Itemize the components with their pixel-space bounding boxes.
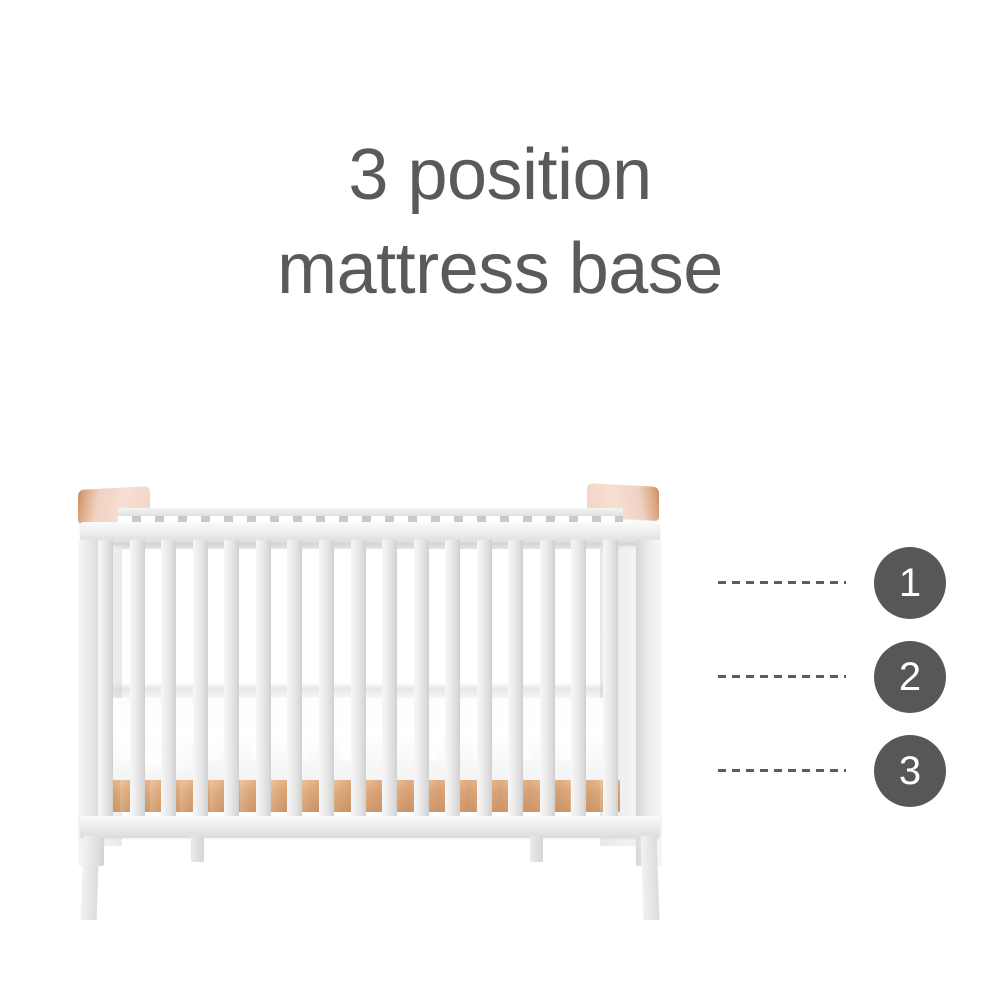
cot-slat <box>477 540 492 820</box>
cot-slat <box>508 540 523 820</box>
cot-slat <box>256 540 271 820</box>
cot-slat <box>319 540 334 820</box>
cot-slat <box>130 540 145 820</box>
cot-slat <box>193 540 208 820</box>
product-feature-image: 3 position mattress base 123 <box>0 0 1000 1000</box>
leg-back-right <box>530 836 543 862</box>
cot-slat <box>224 540 239 820</box>
cot-slat <box>287 540 302 820</box>
position-badge[interactable]: 1 <box>874 547 946 619</box>
cot-slat <box>351 540 366 820</box>
cot-slat <box>540 540 555 820</box>
cot-slat <box>161 540 176 820</box>
cot-slat <box>382 540 397 820</box>
position-badge[interactable]: 3 <box>874 735 946 807</box>
cot-slat <box>445 540 460 820</box>
bottom-rail <box>80 816 660 838</box>
leg-front-right <box>641 836 660 920</box>
slat-group <box>98 540 618 820</box>
callout-leader-line <box>718 769 846 772</box>
cot-illustration <box>60 480 680 880</box>
leg-back-left <box>191 836 204 862</box>
callout-leader-line <box>718 581 846 584</box>
callout-leader-line <box>718 675 846 678</box>
cot-slat <box>603 540 618 820</box>
position-badge[interactable]: 2 <box>874 641 946 713</box>
cot-slat <box>98 540 113 820</box>
cot-slat <box>414 540 429 820</box>
page-title: 3 position mattress base <box>0 128 1000 316</box>
leg-front-left <box>81 836 100 920</box>
cot-slat <box>571 540 586 820</box>
